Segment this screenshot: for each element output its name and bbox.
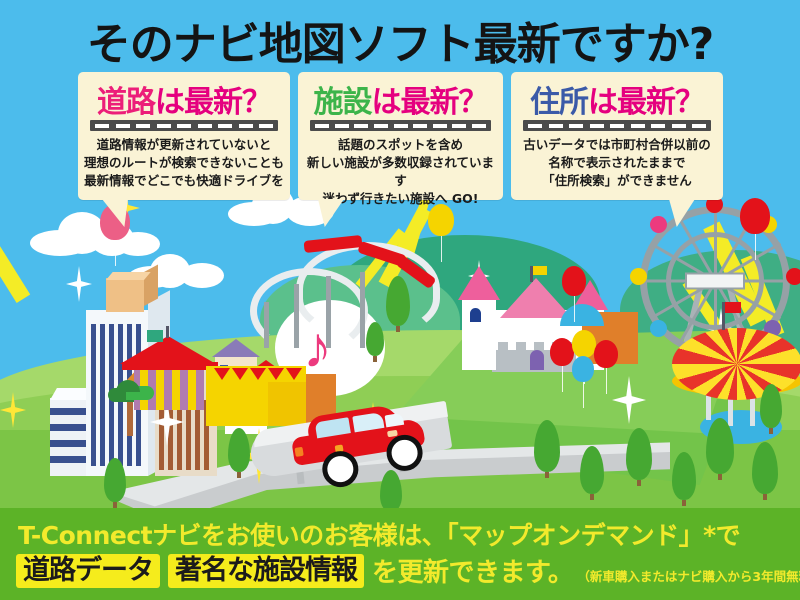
info-box-facilities-title: 施設は最新？ (298, 77, 503, 121)
info-box-roads-line: 最新情報でどこでも快適ドライブを (84, 172, 284, 190)
pine-tree (386, 276, 410, 332)
info-box-addresses-title: 住所は最新？ (511, 77, 723, 121)
info-box-addresses-title-suffix: は最新？ (588, 85, 704, 120)
info-box-roads-body: 道路情報が更新されていないと 理想のルートが検索できないことも 最新情報でどこで… (84, 136, 284, 190)
road-dashed-line-icon (90, 120, 278, 131)
pine-tree (104, 458, 126, 508)
road-dashed-line-icon (310, 120, 491, 131)
pine-tree (626, 428, 652, 486)
info-box-addresses-line: 名称で表示されたままで (517, 154, 717, 172)
pine-tree (534, 420, 560, 478)
ferris-wheel-car (650, 320, 667, 337)
info-box-roads: 道路は最新？ 道路情報が更新されていないと 理想のルートが検索できないことも 最… (78, 72, 290, 200)
info-box-roads-title-suffix: は最新？ (155, 85, 271, 120)
info-box-facilities-line: 話題のスポットを含め (304, 136, 497, 154)
ferris-wheel-car (630, 268, 647, 285)
info-box-addresses-title-keyword: 住所 (530, 85, 588, 120)
banner-fineprint: （新車購入またはナビ購入から3年間無料） (577, 566, 800, 589)
pine-tree (752, 442, 778, 500)
info-box-addresses-body: 古いデータでは市町村合併以前の 名称で表示されたままで 「住所検索」ができません (517, 136, 717, 190)
poster: ♪ (0, 0, 800, 600)
info-box-facilities-title-keyword: 施設 (314, 85, 372, 120)
ferris-wheel-car (786, 268, 800, 285)
illustration-scene: ♪ (0, 180, 800, 510)
info-box-roads-line: 道路情報が更新されていないと (84, 136, 284, 154)
info-box-addresses-line: 「住所検索」ができません (517, 172, 717, 190)
pine-tree (580, 446, 604, 500)
banner-subline: 道路データ 著名な施設情報 を更新できます。 （新車購入またはナビ購入から3年間… (16, 552, 800, 589)
info-box-roads-line: 理想のルートが検索できないことも (84, 154, 284, 172)
info-box-addresses: 住所は最新？ 古いデータでは市町村合併以前の 名称で表示されたままで 「住所検索… (511, 72, 723, 200)
balloon-yellow (428, 204, 454, 236)
pine-tree (228, 428, 250, 478)
page-title: そのナビ地図ソフト最新ですか? (0, 8, 800, 72)
info-box-facilities-title-suffix: は最新？ (372, 85, 488, 120)
banner-headline: T-Connectナビをお使いのお客様は、「マップオンデマンド」*で (18, 516, 740, 552)
balloon-cluster (550, 328, 646, 384)
info-box-facilities-body: 話題のスポットを含め 新しい施設が多数収録されています 迷わず行きたい施設へ G… (304, 136, 497, 208)
cloud-left (30, 210, 160, 256)
info-box-roads-title: 道路は最新？ (78, 77, 290, 121)
balloon-red-2 (562, 266, 586, 296)
carousel-flag (725, 302, 741, 313)
chip-road-data: 道路データ (16, 554, 160, 588)
info-box-facilities-line: 新しい施設が多数収録されています (304, 154, 497, 190)
ferris-wheel-car (650, 216, 667, 233)
road-dashed-line-icon (523, 120, 711, 131)
ferris-wheel-hub (685, 273, 745, 290)
pine-tree (366, 322, 384, 362)
banner-tail-text: を更新できます。 (372, 552, 573, 589)
info-box-roads-title-keyword: 道路 (97, 85, 155, 120)
chip-facility-info: 著名な施設情報 (168, 554, 364, 588)
info-box-addresses-line: 古いデータでは市町村合併以前の (517, 136, 717, 154)
pine-tree (672, 452, 696, 506)
info-box-facilities: 施設は最新？ 話題のスポットを含め 新しい施設が多数収録されています 迷わず行き… (298, 72, 503, 200)
pine-tree (380, 470, 402, 510)
palm-tree (110, 380, 150, 434)
pine-tree (706, 418, 734, 480)
balloon-red (740, 198, 770, 234)
pine-tree (760, 384, 782, 434)
bottom-banner: T-Connectナビをお使いのお客様は、「マップオンデマンド」*で 道路データ… (0, 508, 800, 600)
info-box-group: 道路は最新？ 道路情報が更新されていないと 理想のルートが検索できないことも 最… (0, 72, 800, 202)
